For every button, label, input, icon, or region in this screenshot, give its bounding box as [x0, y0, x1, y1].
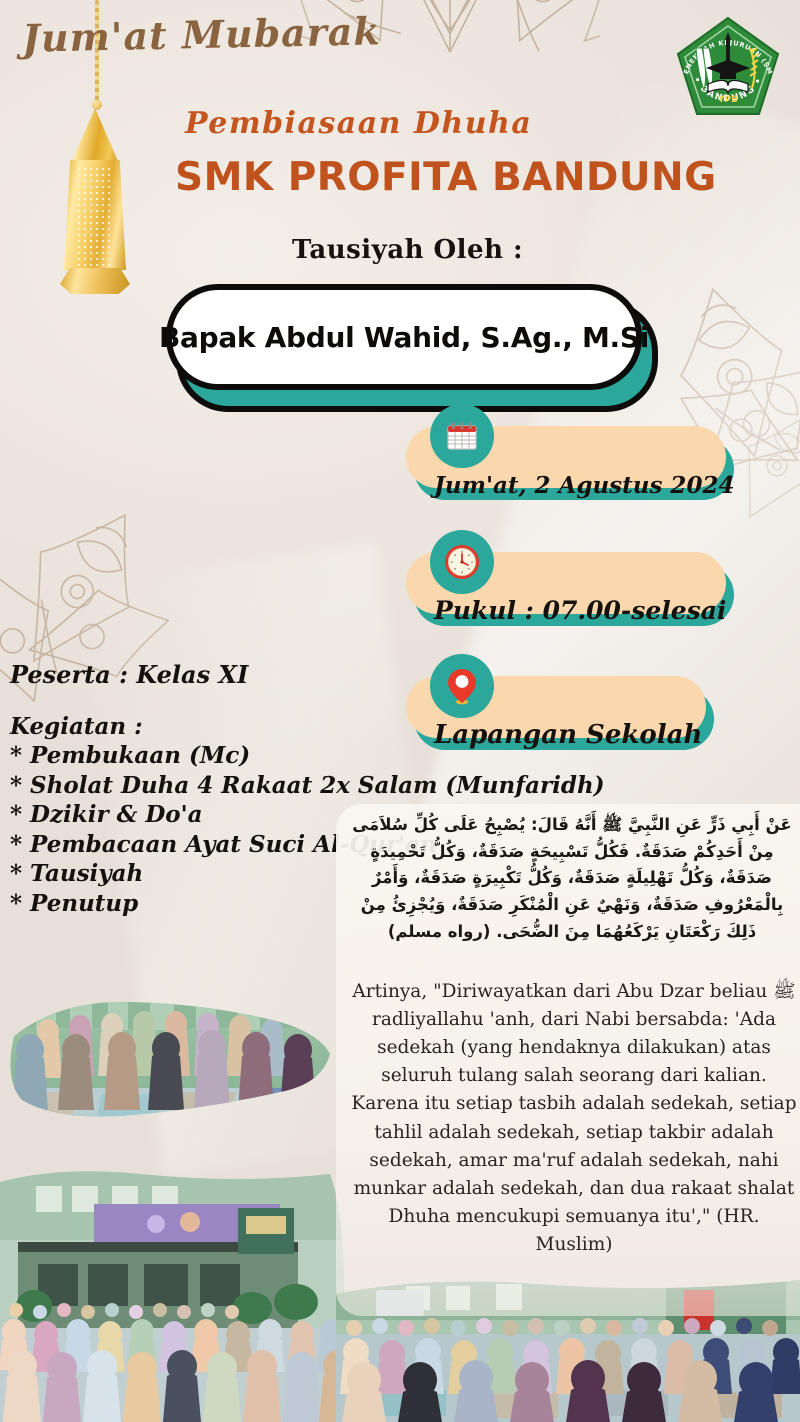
- greeting-title: Jum'at Mubarak: [22, 8, 382, 61]
- info-row-time: Pukul : 07.00-selesai: [406, 552, 740, 648]
- school-logo: SEKOLAH MENENGAH KEJURUAN (SMK) PROFITA …: [672, 14, 784, 126]
- lantern-cap: [70, 108, 120, 166]
- lantern-mesh: [76, 166, 114, 266]
- lantern-knob: [92, 100, 102, 110]
- clock-icon: [430, 530, 494, 594]
- agenda-item: * Sholat Duha 4 Rakaat 2x Salam (Munfari…: [10, 771, 605, 800]
- participants-text: Peserta : Kelas XI: [10, 660, 248, 689]
- speaker-label: Tausiyah Oleh :: [292, 235, 523, 265]
- time-value: Pukul : 07.00-selesai: [434, 596, 726, 625]
- svg-text:YPB: YPB: [717, 95, 738, 105]
- hadith-translation-text: Artinya, "Diriwayatkan dari Abu Dzar bel…: [348, 978, 800, 1259]
- photo-students-praying-standing: [0, 988, 336, 1160]
- hadith-arabic-text: عَنْ أَبِي ذَرٍّ عَنِ النَّبِيَّ ﷺ أَنَّ…: [352, 812, 792, 946]
- date-value: Jum'at, 2 Agustus 2024: [434, 472, 734, 499]
- subtitle: Pembiasaan Dhuha: [185, 106, 532, 141]
- speaker-pill-group: Bapak Abdul Wahid, S.Ag., M.Si: [166, 284, 650, 406]
- agenda-title: Kegiatan :: [10, 712, 605, 741]
- calendar-icon: [430, 404, 494, 468]
- school-name-title: SMK PROFITA BANDUNG: [175, 155, 717, 200]
- photo-school-courtyard-gathering: [0, 1160, 348, 1422]
- info-row-date: Jum'at, 2 Agustus 2024: [406, 426, 740, 522]
- map-pin-icon: [430, 654, 494, 718]
- dhuha-event-poster: Jum'at Mubarak Pembiasaan Dhuha SMK PROF…: [0, 0, 800, 1422]
- lantern-base: [60, 268, 130, 294]
- speaker-pill: Bapak Abdul Wahid, S.Ag., M.Si: [166, 284, 642, 390]
- speaker-name: Bapak Abdul Wahid, S.Ag., M.Si: [159, 321, 649, 354]
- agenda-item: * Pembukaan (Mc): [10, 741, 605, 770]
